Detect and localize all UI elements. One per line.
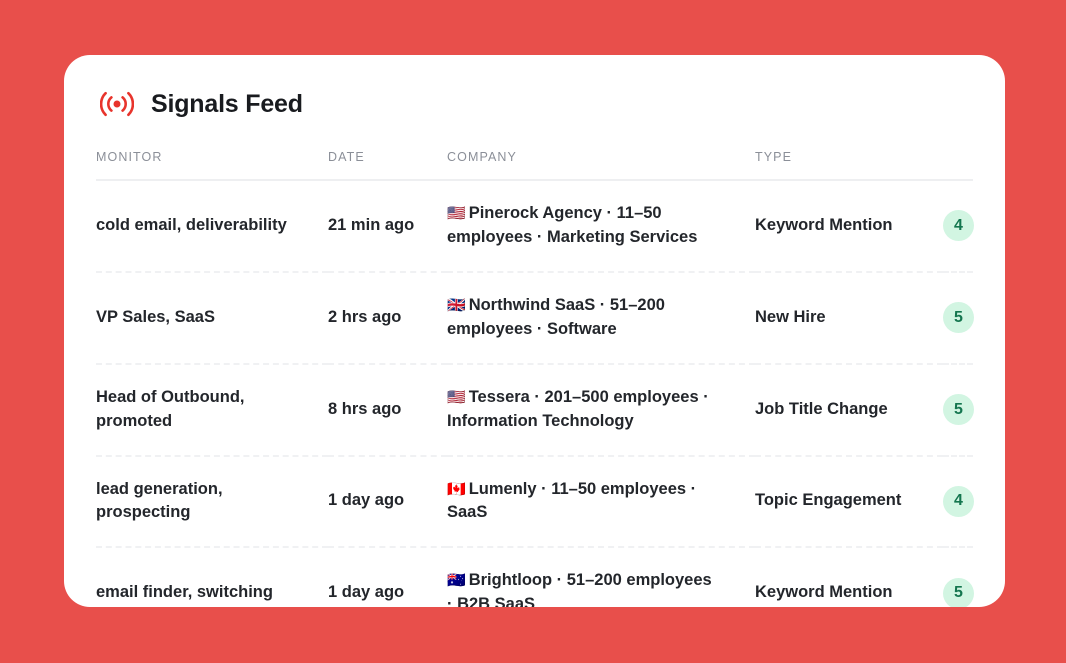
- card-header: Signals Feed: [96, 87, 973, 121]
- cell-company: 🇺🇸Pinerock Agency · 11–50 employees · Ma…: [447, 180, 755, 272]
- column-header-score: [943, 150, 973, 180]
- country-flag-icon: 🇨🇦: [447, 480, 466, 498]
- cell-type: Topic Engagement: [755, 456, 943, 548]
- cell-score: 4: [943, 456, 973, 548]
- column-header-date[interactable]: DATE: [328, 150, 447, 180]
- table-row[interactable]: Head of Outbound, promoted 8 hrs ago 🇺🇸T…: [96, 364, 973, 456]
- score-badge: 5: [943, 578, 974, 607]
- company-text: Pinerock Agency · 11–50 employees · Mark…: [447, 204, 697, 246]
- table-row[interactable]: email finder, switching 1 day ago 🇦🇺Brig…: [96, 547, 973, 607]
- cell-date: 1 day ago: [328, 547, 447, 607]
- cell-monitor: VP Sales, SaaS: [96, 272, 328, 364]
- country-flag-icon: 🇦🇺: [447, 571, 466, 589]
- column-header-type[interactable]: TYPE: [755, 150, 943, 180]
- score-badge: 5: [943, 302, 974, 333]
- company-text: Lumenly · 11–50 employees · SaaS: [447, 480, 696, 522]
- table-header: MONITOR DATE COMPANY TYPE: [96, 150, 973, 180]
- cell-date: 1 day ago: [328, 456, 447, 548]
- signals-table: MONITOR DATE COMPANY TYPE cold email, de…: [96, 150, 973, 607]
- cell-score: 5: [943, 272, 973, 364]
- cell-monitor: cold email, deliverability: [96, 180, 328, 272]
- cell-company: 🇨🇦Lumenly · 11–50 employees · SaaS: [447, 456, 755, 548]
- cell-monitor: email finder, switching: [96, 547, 328, 607]
- cell-monitor: lead generation, prospecting: [96, 456, 328, 548]
- company-text: Brightloop · 51–200 employees · B2B SaaS: [447, 571, 712, 607]
- column-header-monitor[interactable]: MONITOR: [96, 150, 328, 180]
- page-title: Signals Feed: [151, 92, 303, 117]
- cell-company: 🇦🇺Brightloop · 51–200 employees · B2B Sa…: [447, 547, 755, 607]
- table-row[interactable]: VP Sales, SaaS 2 hrs ago 🇬🇧Northwind Saa…: [96, 272, 973, 364]
- cell-score: 5: [943, 547, 973, 607]
- score-badge: 4: [943, 210, 974, 241]
- score-badge: 5: [943, 394, 974, 425]
- cell-score: 4: [943, 180, 973, 272]
- cell-company: 🇺🇸Tessera · 201–500 employees · Informat…: [447, 364, 755, 456]
- cell-type: New Hire: [755, 272, 943, 364]
- table-body: cold email, deliverability 21 min ago 🇺🇸…: [96, 180, 973, 607]
- cell-date: 8 hrs ago: [328, 364, 447, 456]
- cell-company: 🇬🇧Northwind SaaS · 51–200 employees · So…: [447, 272, 755, 364]
- country-flag-icon: 🇺🇸: [447, 388, 466, 406]
- page-background: Signals Feed MONITOR DATE COMPANY TYPE: [0, 0, 1066, 663]
- signals-feed-card: Signals Feed MONITOR DATE COMPANY TYPE: [64, 55, 1005, 607]
- cell-type: Job Title Change: [755, 364, 943, 456]
- country-flag-icon: 🇺🇸: [447, 204, 466, 222]
- score-badge: 4: [943, 486, 974, 517]
- cell-date: 21 min ago: [328, 180, 447, 272]
- company-text: Tessera · 201–500 employees · Informatio…: [447, 388, 709, 430]
- cell-date: 2 hrs ago: [328, 272, 447, 364]
- company-text: Northwind SaaS · 51–200 employees · Soft…: [447, 296, 665, 338]
- cell-type: Keyword Mention: [755, 547, 943, 607]
- cell-type: Keyword Mention: [755, 180, 943, 272]
- country-flag-icon: 🇬🇧: [447, 296, 466, 314]
- table-row[interactable]: cold email, deliverability 21 min ago 🇺🇸…: [96, 180, 973, 272]
- broadcast-signal-icon: [97, 87, 137, 121]
- table-row[interactable]: lead generation, prospecting 1 day ago 🇨…: [96, 456, 973, 548]
- cell-score: 5: [943, 364, 973, 456]
- cell-monitor: Head of Outbound, promoted: [96, 364, 328, 456]
- column-header-company[interactable]: COMPANY: [447, 150, 755, 180]
- table-header-row: MONITOR DATE COMPANY TYPE: [96, 150, 973, 180]
